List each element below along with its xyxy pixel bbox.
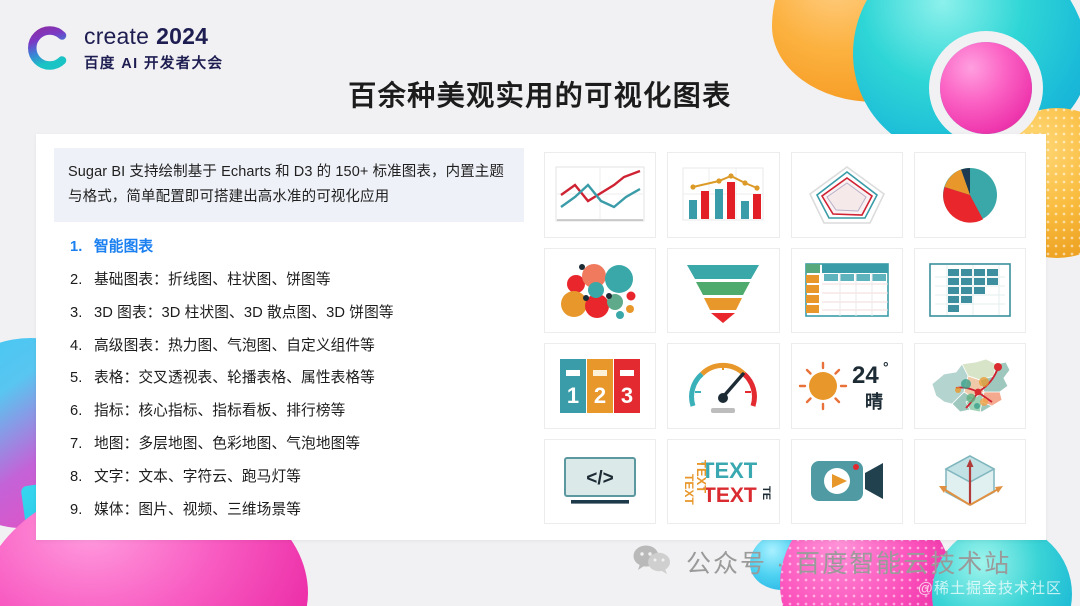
list-item-label: 指标：核心指标、指标看板、排行榜等 — [94, 402, 345, 420]
list-item-label: 基础图表：折线图、柱状图、饼图等 — [94, 271, 331, 289]
list-item: 9. 媒体：图片、视频、三维场景等 — [70, 501, 524, 519]
china-map-flow-icon[interactable] — [914, 343, 1026, 429]
list-item: 4. 高级图表：热力图、气泡图、自定义组件等 — [70, 337, 524, 355]
list-item: 5. 表格：交叉透视表、轮播表格、属性表格等 — [70, 369, 524, 387]
list-item-label: 文字：文本、字符云、跑马灯等 — [94, 468, 301, 486]
list-item-label: 智能图表 — [94, 238, 153, 256]
list-item: 6. 指标：核心指标、指标看板、排行榜等 — [70, 402, 524, 420]
list-item-number: 2. — [70, 271, 94, 289]
wechat-footer: 公众号 · 百度智能云技术站 — [632, 543, 1011, 580]
bubble-chart-icon[interactable] — [544, 248, 656, 334]
svg-text:3: 3 — [621, 383, 633, 408]
svg-text:</>: </> — [586, 468, 613, 489]
list-item-number: 6. — [70, 402, 94, 420]
logo-brand-text: create — [84, 23, 149, 50]
weather-widget-icon[interactable]: 24 ° 晴 — [791, 343, 903, 429]
list-item-number: 7. — [70, 435, 94, 453]
list-item-number: 9. — [70, 501, 94, 519]
svg-text:2: 2 — [594, 383, 606, 408]
list-item-number: 4. — [70, 337, 94, 355]
three-d-scene-icon[interactable] — [914, 439, 1026, 525]
logo-subtitle: 百度 AI 开发者大会 — [84, 52, 223, 73]
svg-text:晴: 晴 — [865, 391, 883, 412]
svg-text:TE: TE — [760, 486, 771, 500]
ranking-board-icon[interactable]: 1 2 3 — [544, 343, 656, 429]
list-item-number: 5. — [70, 369, 94, 387]
wechat-account-text: 公众号 · 百度智能云技术站 — [686, 544, 1011, 580]
list-item-label: 表格：交叉透视表、轮播表格、属性表格等 — [94, 369, 375, 387]
list-item-label: 媒体：图片、视频、三维场景等 — [94, 501, 301, 519]
watermark-text: @稀土掘金技术社区 — [918, 577, 1062, 598]
svg-text:TEXT: TEXT — [703, 484, 757, 507]
list-item-label: 高级图表：热力图、气泡图、自定义组件等 — [94, 337, 375, 355]
list-item-label: 3D 图表：3D 柱状图、3D 散点图、3D 饼图等 — [94, 304, 394, 322]
custom-code-component-icon[interactable]: </> — [544, 439, 656, 525]
list-item-number: 8. — [70, 468, 94, 486]
pivot-table-icon[interactable] — [791, 248, 903, 334]
list-item-label: 地图：多层地图、色彩地图、气泡地图等 — [94, 435, 360, 453]
list-item: 2. 基础图表：折线图、柱状图、饼图等 — [70, 271, 524, 289]
logo-year-text: 2024 — [156, 23, 208, 50]
bar-line-combo-chart-icon[interactable] — [667, 152, 779, 238]
video-player-icon[interactable] — [791, 439, 903, 525]
wechat-icon — [632, 543, 672, 580]
page-title: 百余种美观实用的可视化图表 — [0, 74, 1080, 114]
radar-chart-icon[interactable] — [791, 152, 903, 238]
feature-list: 1. 智能图表 2. 基础图表：折线图、柱状图、饼图等 3. 3D 图表：3D … — [54, 238, 524, 519]
list-item: 8. 文字：文本、字符云、跑马灯等 — [70, 468, 524, 486]
list-item: 7. 地图：多层地图、色彩地图、气泡地图等 — [70, 435, 524, 453]
list-item-number: 3. — [70, 304, 94, 322]
svg-text:TEXT: TEXT — [682, 474, 696, 505]
left-column: Sugar BI 支持绘制基于 Echarts 和 D3 的 150+ 标准图表… — [54, 148, 524, 526]
create-c-logo-icon — [22, 22, 74, 74]
svg-text:24: 24 — [852, 362, 879, 389]
content-card: Sugar BI 支持绘制基于 Echarts 和 D3 的 150+ 标准图表… — [36, 134, 1046, 540]
list-item-number: 1. — [70, 238, 94, 256]
list-item: 3. 3D 图表：3D 柱状图、3D 散点图、3D 饼图等 — [70, 304, 524, 322]
description-box: Sugar BI 支持绘制基于 Echarts 和 D3 的 150+ 标准图表… — [54, 148, 524, 222]
gauge-chart-icon[interactable] — [667, 343, 779, 429]
svg-text:1: 1 — [567, 383, 579, 408]
pie-chart-icon[interactable] — [914, 152, 1026, 238]
heatmap-table-icon[interactable] — [914, 248, 1026, 334]
brand-logo: create 2024 百度 AI 开发者大会 — [22, 22, 223, 74]
funnel-chart-icon[interactable] — [667, 248, 779, 334]
word-cloud-icon[interactable]: TEXT TEXT TEXT TEXT TE — [667, 439, 779, 525]
line-chart-icon[interactable] — [544, 152, 656, 238]
svg-text:°: ° — [883, 359, 889, 375]
slide-root: create 2024 百度 AI 开发者大会 百余种美观实用的可视化图表 Su… — [0, 0, 1080, 606]
list-item: 1. 智能图表 — [70, 238, 524, 256]
chart-type-grid: 1 2 3 — [538, 148, 1028, 526]
